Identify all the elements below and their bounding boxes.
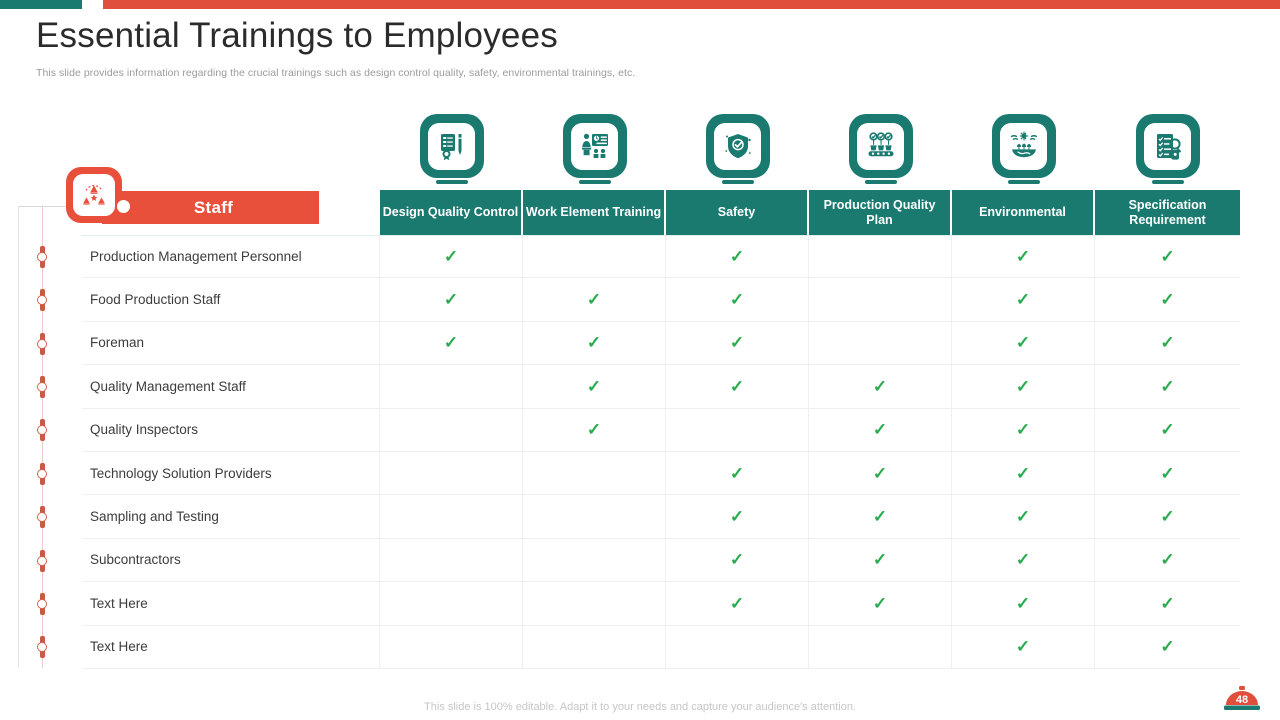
- table-body: Production Management Personnel✓✓✓✓Food …: [82, 235, 1240, 669]
- cell-checked[interactable]: ✓: [666, 452, 809, 494]
- cell-checked[interactable]: ✓: [1095, 539, 1240, 581]
- cell-checked[interactable]: ✓: [1095, 582, 1240, 624]
- check-icon: ✓: [1160, 291, 1174, 308]
- cell-checked[interactable]: ✓: [523, 409, 666, 451]
- check-icon: ✓: [1016, 421, 1030, 438]
- cell-checked[interactable]: ✓: [952, 236, 1095, 277]
- table-row: Technology Solution Providers✓✓✓✓: [82, 452, 1240, 495]
- staff-connector-knob: [115, 198, 132, 215]
- cell-checked[interactable]: ✓: [952, 278, 1095, 320]
- table-row: Quality Inspectors✓✓✓✓: [82, 409, 1240, 452]
- check-icon: ✓: [1016, 551, 1030, 568]
- clipboard-certificate-pencil-icon: [428, 123, 475, 170]
- check-icon: ✓: [730, 334, 744, 351]
- cell-checked[interactable]: ✓: [666, 322, 809, 364]
- check-icon: ✓: [1160, 638, 1174, 655]
- cell-checked[interactable]: ✓: [1095, 236, 1240, 277]
- trainings-matrix-table: Design Quality ControlWork Element Train…: [82, 190, 1240, 669]
- column-icon-badge-3: [706, 114, 770, 178]
- page-number: 48: [1222, 694, 1262, 706]
- column-icon-badge-6: [1136, 114, 1200, 178]
- column-icon-badge-2: [563, 114, 627, 178]
- table-row: Food Production Staff✓✓✓✓✓: [82, 278, 1240, 321]
- column-icon-badge-4: [849, 114, 913, 178]
- check-icon: ✓: [1160, 421, 1174, 438]
- check-icon: ✓: [1016, 334, 1030, 351]
- row-label: Text Here: [82, 582, 380, 624]
- check-icon: ✓: [1016, 248, 1030, 265]
- rail-tick-dot: [37, 425, 47, 435]
- cell-empty[interactable]: [523, 236, 666, 277]
- row-label: Food Production Staff: [82, 278, 380, 320]
- cell-empty[interactable]: [380, 365, 523, 407]
- check-icon: ✓: [730, 291, 744, 308]
- cell-empty[interactable]: [809, 322, 952, 364]
- staff-connector-vertical: [18, 206, 19, 668]
- cell-checked[interactable]: ✓: [809, 452, 952, 494]
- top-accent-orange-segment: [103, 0, 1280, 9]
- column-header-1[interactable]: Design Quality Control: [380, 190, 523, 235]
- column-header-3[interactable]: Safety: [666, 190, 809, 235]
- page-title: Essential Trainings to Employees: [36, 16, 558, 56]
- check-icon: ✓: [730, 551, 744, 568]
- rail-tick-dot: [37, 469, 47, 479]
- row-label: Text Here: [82, 626, 380, 668]
- row-label: Quality Management Staff: [82, 365, 380, 407]
- check-icon: ✓: [873, 551, 887, 568]
- staff-badge: [66, 167, 122, 223]
- cell-checked[interactable]: ✓: [666, 539, 809, 581]
- cell-checked[interactable]: ✓: [952, 365, 1095, 407]
- org-chart-people-icon: [73, 174, 115, 216]
- rail-tick-dot: [37, 382, 47, 392]
- check-icon: ✓: [1016, 508, 1030, 525]
- cell-empty[interactable]: [380, 539, 523, 581]
- table-row: Quality Management Staff✓✓✓✓✓: [82, 365, 1240, 408]
- cell-checked[interactable]: ✓: [952, 626, 1095, 668]
- cell-checked[interactable]: ✓: [1095, 452, 1240, 494]
- cell-checked[interactable]: ✓: [809, 495, 952, 537]
- check-icon: ✓: [730, 248, 744, 265]
- column-icon-stem-4: [865, 180, 897, 184]
- table-row: Sampling and Testing✓✓✓✓: [82, 495, 1240, 538]
- column-header-5[interactable]: Environmental: [952, 190, 1095, 235]
- rail-tick-dot: [37, 642, 47, 652]
- table-row: Foreman✓✓✓✓✓: [82, 322, 1240, 365]
- cell-checked[interactable]: ✓: [1095, 409, 1240, 451]
- page-subtitle: This slide provides information regardin…: [36, 67, 635, 79]
- check-icon: ✓: [1016, 378, 1030, 395]
- cell-checked[interactable]: ✓: [809, 409, 952, 451]
- check-icon: ✓: [873, 508, 887, 525]
- cell-checked[interactable]: ✓: [380, 322, 523, 364]
- checklist-magnifier-icon: [1144, 123, 1191, 170]
- check-icon: ✓: [1160, 508, 1174, 525]
- row-label: Sampling and Testing: [82, 495, 380, 537]
- cell-empty[interactable]: [380, 626, 523, 668]
- check-icon: ✓: [1160, 595, 1174, 612]
- check-icon: ✓: [1160, 248, 1174, 265]
- cell-empty[interactable]: [380, 495, 523, 537]
- cell-checked[interactable]: ✓: [1095, 365, 1240, 407]
- check-icon: ✓: [1160, 378, 1174, 395]
- shield-check-icon: [714, 123, 761, 170]
- cell-empty[interactable]: [809, 278, 952, 320]
- check-icon: ✓: [873, 465, 887, 482]
- cell-empty[interactable]: [666, 409, 809, 451]
- cell-empty[interactable]: [380, 409, 523, 451]
- cell-checked[interactable]: ✓: [809, 539, 952, 581]
- table-row: Text Here✓✓✓✓: [82, 582, 1240, 625]
- row-rail: [41, 206, 43, 668]
- cell-checked[interactable]: ✓: [952, 409, 1095, 451]
- cell-empty[interactable]: [523, 582, 666, 624]
- row-label: Foreman: [82, 322, 380, 364]
- cell-checked[interactable]: ✓: [523, 365, 666, 407]
- column-header-6[interactable]: Specification Requirement: [1095, 190, 1240, 235]
- check-icon: ✓: [1016, 291, 1030, 308]
- top-accent-bar: [0, 0, 1280, 9]
- slide: Essential Trainings to Employees This sl…: [0, 0, 1280, 720]
- cell-checked[interactable]: ✓: [666, 365, 809, 407]
- table-row: Text Here✓✓: [82, 626, 1240, 669]
- check-icon: ✓: [730, 508, 744, 525]
- check-icon: ✓: [587, 421, 601, 438]
- cell-empty[interactable]: [380, 582, 523, 624]
- cell-empty[interactable]: [666, 626, 809, 668]
- column-icon-stem-6: [1152, 180, 1184, 184]
- environment-nature-icon: [1000, 123, 1047, 170]
- check-icon: ✓: [1016, 595, 1030, 612]
- cell-checked[interactable]: ✓: [1095, 322, 1240, 364]
- rail-tick-dot: [37, 339, 47, 349]
- check-icon: ✓: [587, 334, 601, 351]
- cell-checked[interactable]: ✓: [666, 582, 809, 624]
- check-icon: ✓: [730, 595, 744, 612]
- rail-tick-dot: [37, 512, 47, 522]
- cell-empty[interactable]: [809, 236, 952, 277]
- cell-checked[interactable]: ✓: [523, 322, 666, 364]
- row-label: Subcontractors: [82, 539, 380, 581]
- cell-checked[interactable]: ✓: [809, 582, 952, 624]
- column-icon-stem-2: [579, 180, 611, 184]
- cell-empty[interactable]: [523, 626, 666, 668]
- check-icon: ✓: [444, 334, 458, 351]
- column-icon-stem-1: [436, 180, 468, 184]
- check-icon: ✓: [1160, 465, 1174, 482]
- cell-checked[interactable]: ✓: [952, 582, 1095, 624]
- row-label: Technology Solution Providers: [82, 452, 380, 494]
- check-icon: ✓: [444, 248, 458, 265]
- footer-note: This slide is 100% editable. Adapt it to…: [0, 701, 1280, 713]
- rail-tick-dot: [37, 556, 47, 566]
- cell-empty[interactable]: [523, 452, 666, 494]
- cell-empty[interactable]: [380, 452, 523, 494]
- rail-tick-dot: [37, 252, 47, 262]
- presentation-training-icon: [571, 123, 618, 170]
- cell-checked[interactable]: ✓: [809, 365, 952, 407]
- cell-checked[interactable]: ✓: [1095, 278, 1240, 320]
- check-icon: ✓: [1016, 465, 1030, 482]
- row-label: Quality Inspectors: [82, 409, 380, 451]
- cell-empty[interactable]: [809, 626, 952, 668]
- cell-empty[interactable]: [523, 539, 666, 581]
- column-icon-stem-3: [722, 180, 754, 184]
- cell-checked[interactable]: ✓: [952, 495, 1095, 537]
- cell-checked[interactable]: ✓: [952, 452, 1095, 494]
- cell-checked[interactable]: ✓: [666, 278, 809, 320]
- table-row: Production Management Personnel✓✓✓✓: [82, 235, 1240, 278]
- cell-checked[interactable]: ✓: [1095, 495, 1240, 537]
- cell-checked[interactable]: ✓: [952, 539, 1095, 581]
- column-icon-badge-5: [992, 114, 1056, 178]
- check-icon: ✓: [873, 421, 887, 438]
- cell-checked[interactable]: ✓: [952, 322, 1095, 364]
- check-icon: ✓: [1016, 638, 1030, 655]
- table-header-row: Design Quality ControlWork Element Train…: [82, 190, 1240, 235]
- column-header-4[interactable]: Production Quality Plan: [809, 190, 952, 235]
- table-row: Subcontractors✓✓✓✓: [82, 539, 1240, 582]
- cell-checked[interactable]: ✓: [666, 495, 809, 537]
- cell-checked[interactable]: ✓: [666, 236, 809, 277]
- column-header-2[interactable]: Work Element Training: [523, 190, 666, 235]
- check-icon: ✓: [1160, 334, 1174, 351]
- rail-tick-dot: [37, 599, 47, 609]
- production-line-check-icon: [857, 123, 904, 170]
- top-accent-teal-segment: [0, 0, 82, 9]
- check-icon: ✓: [444, 291, 458, 308]
- staff-connector-line: [18, 206, 68, 207]
- check-icon: ✓: [1160, 551, 1174, 568]
- cell-empty[interactable]: [523, 495, 666, 537]
- check-icon: ✓: [873, 595, 887, 612]
- check-icon: ✓: [587, 378, 601, 395]
- row-label: Production Management Personnel: [82, 236, 380, 277]
- cell-checked[interactable]: ✓: [380, 236, 523, 277]
- rail-tick-dot: [37, 295, 47, 305]
- cell-checked[interactable]: ✓: [380, 278, 523, 320]
- column-icon-badge-1: [420, 114, 484, 178]
- check-icon: ✓: [587, 291, 601, 308]
- cell-checked[interactable]: ✓: [1095, 626, 1240, 668]
- check-icon: ✓: [730, 465, 744, 482]
- check-icon: ✓: [730, 378, 744, 395]
- column-icon-stem-5: [1008, 180, 1040, 184]
- cell-checked[interactable]: ✓: [523, 278, 666, 320]
- check-icon: ✓: [873, 378, 887, 395]
